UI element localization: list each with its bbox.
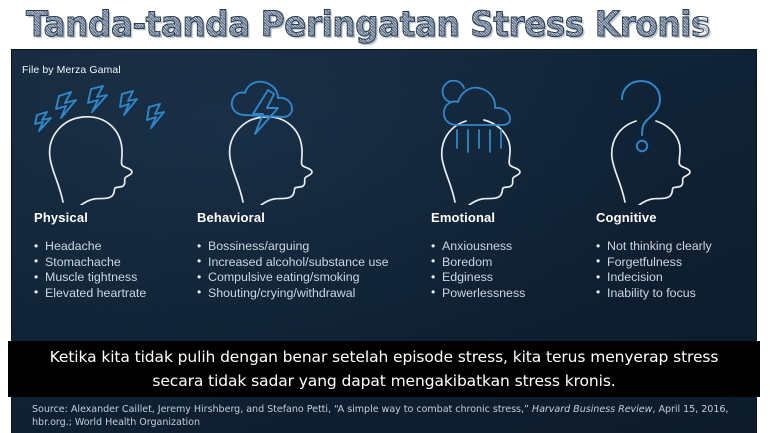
- list-item: Powerlessness: [431, 286, 525, 302]
- list-item: Edginess: [431, 270, 525, 286]
- list-item: Not thinking clearly: [596, 239, 712, 255]
- list-item: Headache: [34, 239, 146, 255]
- column-heading: Emotional: [431, 210, 525, 225]
- symptom-list: Not thinking clearly Forgetfulness Indec…: [596, 239, 712, 301]
- title-bar: Tanda-tanda Peringatan Stress Kronis: [0, 0, 770, 50]
- list-item: Boredom: [431, 255, 525, 271]
- poster-root: Tanda-tanda Peringatan Stress Kronis Fil…: [0, 0, 770, 433]
- column-heading: Cognitive: [596, 210, 712, 225]
- symptom-list: Anxiousness Boredom Edginess Powerlessne…: [431, 239, 525, 301]
- column-cognitive: Cognitive Not thinking clearly Forgetful…: [596, 210, 712, 301]
- column-heading: Behavioral: [197, 210, 388, 225]
- list-item: Forgetfulness: [596, 255, 712, 271]
- list-item: Indecision: [596, 270, 712, 286]
- head-question-mark-icon: [582, 80, 752, 205]
- list-item: Increased alcohol/substance use: [197, 255, 388, 271]
- list-item: Shouting/crying/withdrawal: [197, 286, 388, 302]
- list-item: Compulsive eating/smoking: [197, 270, 388, 286]
- list-item: Muscle tightness: [34, 270, 146, 286]
- caption-band: Ketika kita tidak pulih dengan benar set…: [8, 341, 760, 397]
- byline: File by Merza Gamal: [22, 64, 121, 76]
- head-rain-cloud-icon: [412, 80, 582, 205]
- column-heading: Physical: [34, 210, 146, 225]
- list-item: Bossiness/arguing: [197, 239, 388, 255]
- column-behavioral: Behavioral Bossiness/arguing Increased a…: [197, 210, 388, 301]
- head-storm-cloud-icon: [200, 80, 370, 205]
- list-item: Stomachache: [34, 255, 146, 271]
- list-item: Anxiousness: [431, 239, 525, 255]
- caption-text: Ketika kita tidak pulih dengan benar set…: [26, 345, 742, 393]
- column-physical: Physical Headache Stomachache Muscle tig…: [34, 210, 146, 301]
- list-item: Elevated heartrate: [34, 286, 146, 302]
- source-publication: Harvard Business Review: [532, 404, 653, 415]
- column-emotional: Emotional Anxiousness Boredom Edginess P…: [431, 210, 525, 301]
- symptom-list: Headache Stomachache Muscle tightness El…: [34, 239, 146, 301]
- list-item: Inability to focus: [596, 286, 712, 302]
- head-lightning-bolts-icon: [20, 80, 190, 205]
- infographic-panel: File by Merza Gamal: [12, 50, 756, 433]
- symptom-list: Bossiness/arguing Increased alcohol/subs…: [197, 239, 388, 301]
- source-citation: Source: Alexander Caillet, Jeremy Hirshb…: [32, 403, 742, 429]
- source-prefix: Source: Alexander Caillet, Jeremy Hirshb…: [32, 404, 532, 415]
- page-title: Tanda-tanda Peringatan Stress Kronis: [26, 2, 699, 48]
